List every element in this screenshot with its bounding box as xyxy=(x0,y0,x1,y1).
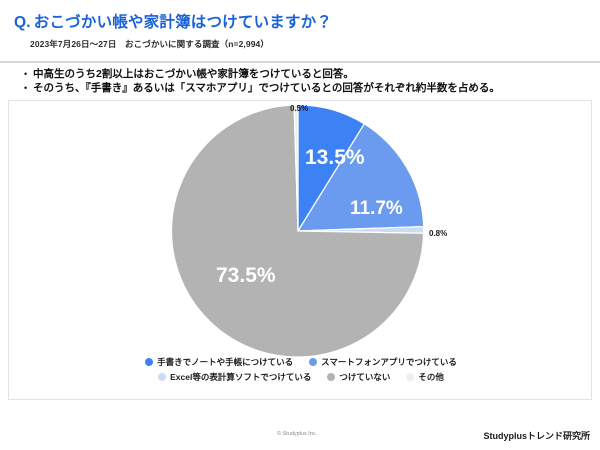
legend-swatch-icon xyxy=(158,373,166,381)
page-title: Q.おこづかい帳や家計簿はつけていますか？ xyxy=(14,10,332,32)
list-item: • 中高生のうち2割以上はおこづかい帳や家計簿をつけていると回答。 xyxy=(24,68,584,81)
pie-chart-svg xyxy=(9,101,593,359)
legend-swatch-icon xyxy=(309,358,317,366)
pie-value-label-none: 73.5% xyxy=(216,264,276,288)
chart-panel: 13.5% 11.7% 73.5% 0.5% 0.8% 手書きでノートや手帳につ… xyxy=(8,100,592,400)
chart-legend: 手書きでノートや手帳につけている スマートフォンアプリでつけている Excel等… xyxy=(9,356,593,386)
legend-label: スマートフォンアプリでつけている xyxy=(321,356,457,368)
legend-swatch-icon xyxy=(327,373,335,381)
legend-row-2: Excel等の表計算ソフトでつけている つけていない その他 xyxy=(9,371,593,383)
summary-bullets: • 中高生のうち2割以上はおこづかい帳や家計簿をつけていると回答。 • そのうち… xyxy=(24,68,584,96)
legend-item-smartphone[interactable]: スマートフォンアプリでつけている xyxy=(309,356,457,368)
bullet-text: 中高生のうち2割以上はおこづかい帳や家計簿をつけていると回答。 xyxy=(33,68,354,81)
legend-label: Excel等の表計算ソフトでつけている xyxy=(170,371,311,383)
legend-label: つけていない xyxy=(339,371,390,383)
pie-slices xyxy=(172,105,424,357)
bullet-dot-icon: • xyxy=(24,82,33,95)
legend-label: 手書きでノートや手帳につけている xyxy=(157,356,293,368)
legend-swatch-icon xyxy=(406,373,414,381)
pie-callout-label-other: 0.5% xyxy=(290,104,308,113)
pie-callout-label-excel: 0.8% xyxy=(429,229,447,238)
question-prefix: Q. xyxy=(14,14,31,31)
bullet-dot-icon: • xyxy=(24,68,33,81)
pie-chart: 13.5% 11.7% 73.5% 0.5% 0.8% xyxy=(9,101,593,359)
list-item: • そのうち、『手書き』あるいは「スマホアプリ」でつけているとの回答がそれぞれ約… xyxy=(24,82,584,95)
survey-note: 2023年7月26日〜27日 おこづかいに関する調査（n=2,994） xyxy=(30,38,269,50)
legend-label: その他 xyxy=(418,371,444,383)
infographic-slide: Q.おこづかい帳や家計簿はつけていますか？ 2023年7月26日〜27日 おこづ… xyxy=(0,0,600,450)
legend-item-none[interactable]: つけていない xyxy=(327,371,390,383)
pie-value-label-handwriting: 13.5% xyxy=(305,146,365,170)
pie-value-label-smartphone: 11.7% xyxy=(350,198,403,220)
copyright-text: © Studyplus Inc. xyxy=(277,431,317,437)
slide-header: Q.おこづかい帳や家計簿はつけていますか？ 2023年7月26日〜27日 おこづ… xyxy=(0,0,600,63)
legend-item-other[interactable]: その他 xyxy=(406,371,444,383)
brand-label: Studyplusトレンド研究所 xyxy=(483,429,590,442)
question-text: おこづかい帳や家計簿はつけていますか？ xyxy=(34,14,332,31)
bullet-text: そのうち、『手書き』あるいは「スマホアプリ」でつけているとの回答がそれぞれ約半数… xyxy=(33,82,500,95)
legend-item-handwriting[interactable]: 手書きでノートや手帳につけている xyxy=(145,356,293,368)
legend-swatch-icon xyxy=(145,358,153,366)
legend-row-1: 手書きでノートや手帳につけている スマートフォンアプリでつけている xyxy=(9,356,593,368)
legend-item-excel[interactable]: Excel等の表計算ソフトでつけている xyxy=(158,371,311,383)
